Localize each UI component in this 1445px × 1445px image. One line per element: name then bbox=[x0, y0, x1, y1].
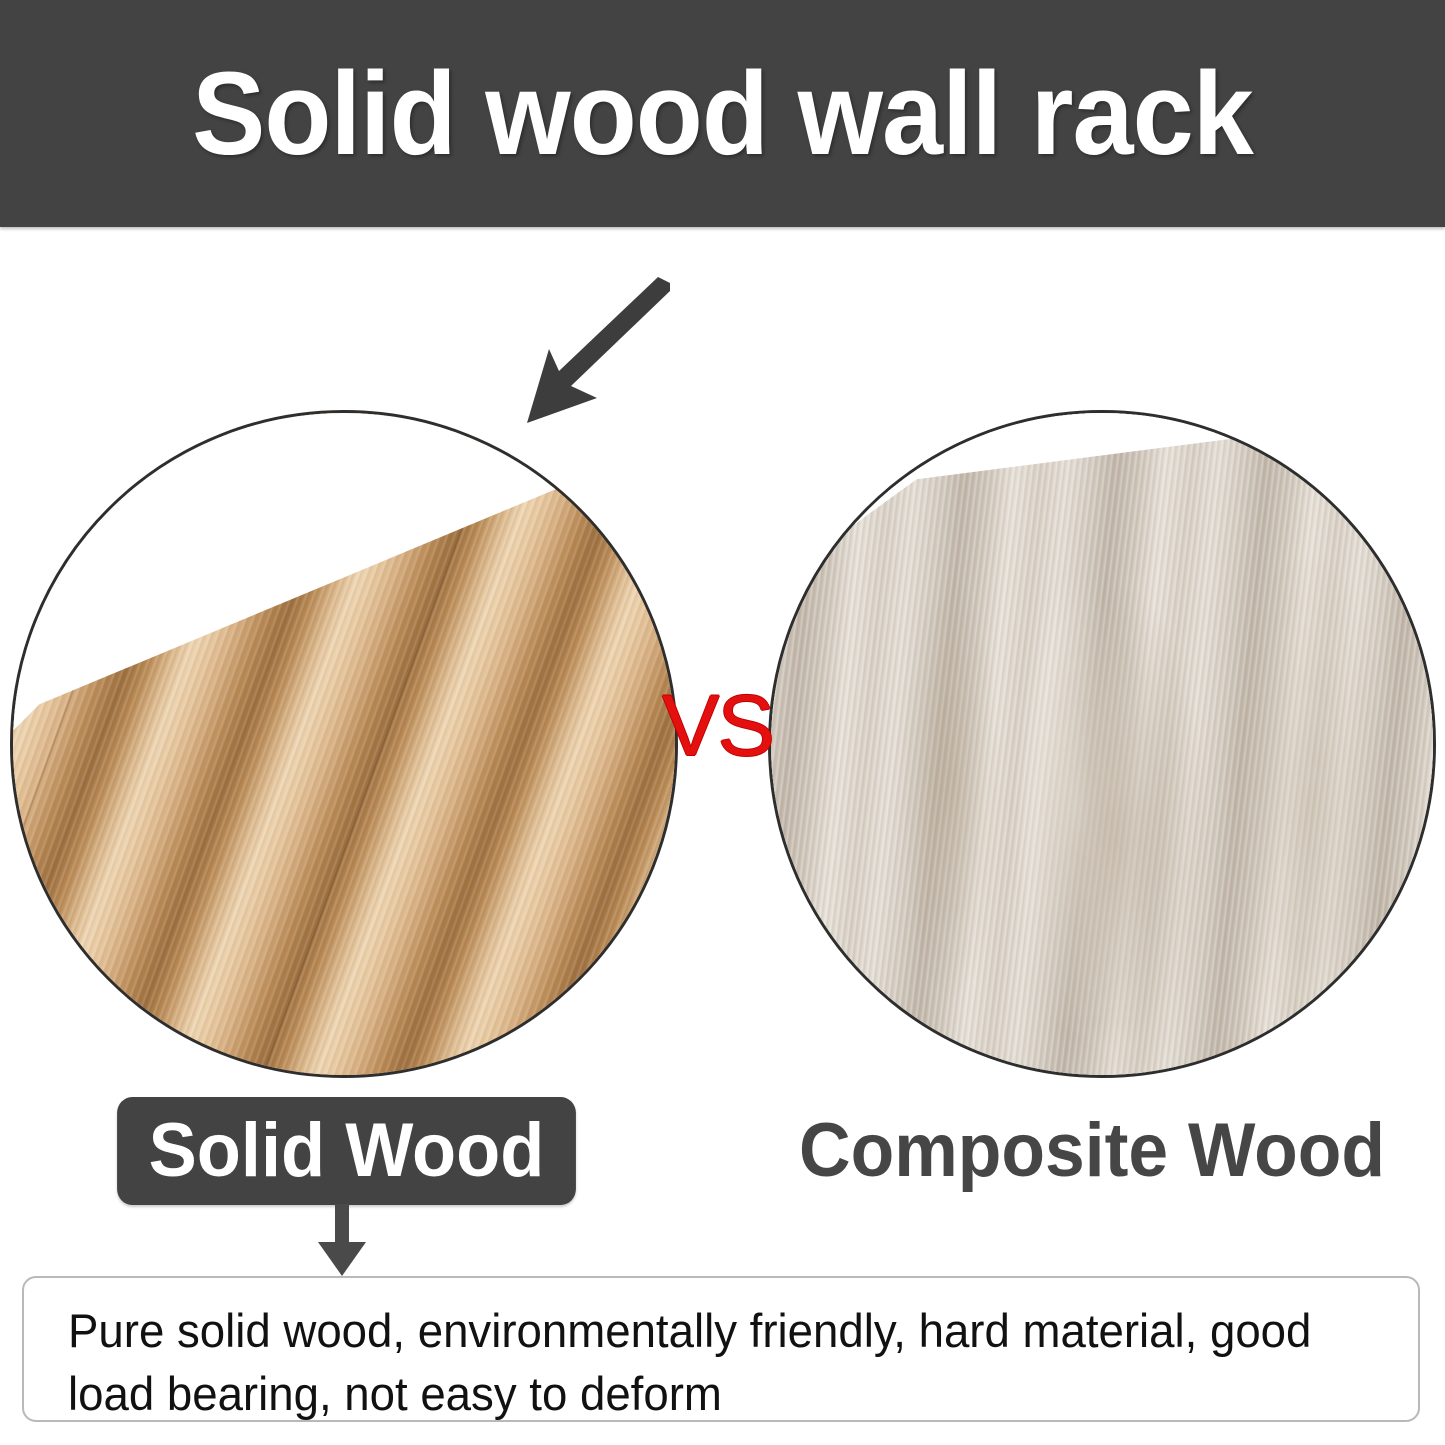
header-band: Solid wood wall rack bbox=[0, 0, 1445, 227]
infographic-page: Solid wood wall rack VS Solid Wood Compo… bbox=[0, 0, 1445, 1445]
composite-wood-label: Composite Wood bbox=[772, 1097, 1411, 1205]
down-arrow-to-caption bbox=[312, 1204, 372, 1278]
arrow-down-icon bbox=[312, 1204, 372, 1278]
composite-wood-sample-circle bbox=[768, 410, 1436, 1078]
diagonal-arrow-icon bbox=[505, 275, 675, 430]
caption-box: Pure solid wood, environmentally friendl… bbox=[22, 1276, 1420, 1422]
solid-wood-sample-circle bbox=[10, 410, 678, 1078]
page-title: Solid wood wall rack bbox=[51, 0, 1395, 227]
solid-wood-label-badge: Solid Wood bbox=[117, 1097, 576, 1205]
caption-text: Pure solid wood, environmentally friendl… bbox=[68, 1300, 1339, 1425]
vs-label: VS bbox=[660, 683, 775, 769]
diagonal-arrow-to-solid-wood bbox=[505, 275, 675, 430]
